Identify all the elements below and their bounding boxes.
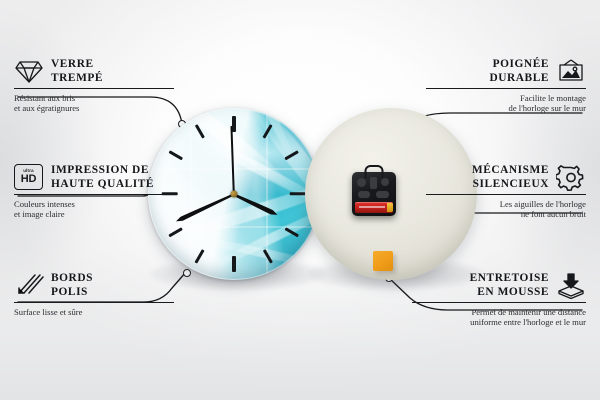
feature-description: Les aiguilles de l'horlogene font aucun … (411, 199, 586, 220)
ultra-hd-large-label: HD (21, 174, 37, 185)
feature-description: Couleurs intenseset image claire (14, 199, 189, 220)
clock-mechanism-box (352, 172, 396, 216)
title-rule (14, 194, 174, 195)
feature-title: BORDSPOLIS (51, 272, 93, 298)
feature-title: MÉCANISMESILENCIEUX (472, 164, 549, 190)
feature-title: VERRETREMPÉ (51, 58, 103, 84)
feature-entretoise-en-mousse[interactable]: ENTRETOISEEN MOUSSE Permet de maintenir … (398, 272, 586, 327)
arrow-onto-layer-icon (556, 272, 586, 299)
battery (355, 202, 393, 213)
title-rule (14, 88, 174, 89)
clock-tick (232, 256, 235, 272)
infographic-canvas: VERRETREMPÉ Résistant aux briset aux égr… (0, 0, 600, 400)
clock-tick (232, 116, 235, 132)
picture-frame-hanger-icon (556, 58, 586, 85)
feature-description: Résistant aux briset aux égratignures (14, 93, 189, 114)
title-rule (426, 194, 586, 195)
feature-impression-haute-qualite[interactable]: ultra HD IMPRESSION DEHAUTE QUALITÉ Coul… (14, 164, 189, 219)
foam-spacer (373, 251, 393, 271)
diagonal-lines-icon (14, 272, 44, 299)
title-rule (412, 302, 586, 303)
title-rule (14, 302, 174, 303)
feature-description: Surface lisse et sûre (14, 307, 189, 317)
feature-title: ENTRETOISEEN MOUSSE (470, 272, 549, 298)
feature-poignee-durable[interactable]: POIGNÉEDURABLE Facilite le montagede l'h… (411, 58, 586, 113)
clock-center-hub (231, 191, 238, 198)
feature-mecanisme-silencieux[interactable]: MÉCANISMESILENCIEUX Les aiguilles de l'h… (411, 164, 586, 219)
gear-icon (556, 164, 586, 191)
feature-bords-polis[interactable]: BORDSPOLIS Surface lisse et sûre (14, 272, 189, 317)
feature-title: POIGNÉEDURABLE (489, 58, 549, 84)
feature-description: Facilite le montagede l'horloge sur le m… (411, 93, 586, 114)
diamond-icon (14, 58, 44, 85)
clock-tick (290, 192, 306, 195)
ultra-hd-icon: ultra HD (14, 164, 44, 191)
feature-verre-trempe[interactable]: VERRETREMPÉ Résistant aux briset aux égr… (14, 58, 189, 113)
feature-title: IMPRESSION DEHAUTE QUALITÉ (51, 164, 154, 190)
title-rule (426, 88, 586, 89)
feature-description: Permet de maintenir une distanceuniforme… (398, 307, 586, 328)
